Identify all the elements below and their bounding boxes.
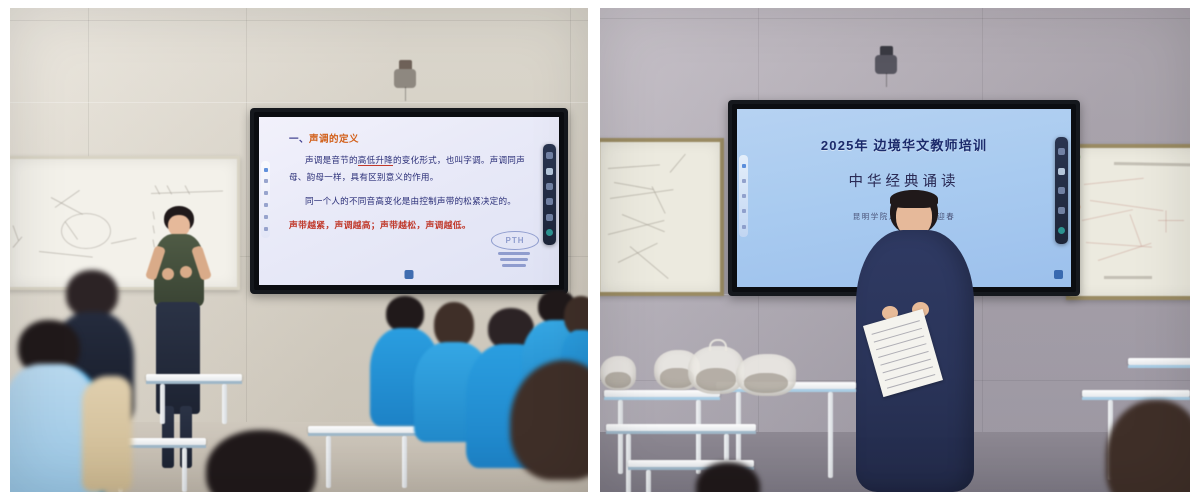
palette-icon[interactable] — [1058, 187, 1065, 194]
wall-seam — [246, 8, 247, 492]
slide-highlight-text: 声带越紧，声调越高；声带越松，声调越低。 — [289, 218, 539, 231]
left-interactive-display[interactable]: 一、声调的定义 声调是音节的高低升降的变化形式，也叫字调。声调同声母、韵母一样，… — [250, 108, 568, 294]
wall-seam — [10, 20, 588, 21]
menu-icon[interactable] — [546, 152, 553, 159]
eraser-icon[interactable] — [264, 179, 268, 183]
paragraph-1-underlined: 高低升降 — [358, 155, 393, 166]
shape-icon[interactable] — [264, 191, 268, 195]
pth-watermark: PTH — [491, 231, 537, 271]
whiteboard-handwriting — [1070, 148, 1190, 296]
plastic-bag — [600, 356, 636, 390]
right-wood-whiteboard — [1066, 144, 1190, 300]
slide-right-toolbar[interactable] — [1055, 137, 1068, 244]
desk — [1128, 358, 1190, 398]
slide-nav-button[interactable] — [1054, 270, 1063, 279]
menu-icon[interactable] — [1058, 148, 1065, 155]
eraser-icon[interactable] — [546, 198, 553, 205]
paragraph-1-seg-1: 声调是音节的 — [305, 155, 358, 165]
right-photo-panel: 2025年 边境华文教师培训 中华经典诵读 昆明学院人文学院 张迎春 — [600, 8, 1190, 492]
slide-paragraph-2: 同一个人的不同音高变化是由控制声带的松紧决定的。 — [289, 193, 539, 210]
audience-member — [1106, 400, 1190, 492]
hand-icon[interactable] — [1058, 227, 1065, 234]
select-icon[interactable] — [742, 194, 746, 198]
pth-watermark-label: PTH — [491, 231, 539, 250]
audience-member — [206, 430, 326, 492]
undo-icon[interactable] — [742, 209, 746, 213]
palette-icon[interactable] — [546, 183, 553, 190]
slide-subtitle: 中华经典诵读 — [849, 170, 960, 191]
pen-icon[interactable] — [1058, 168, 1065, 175]
jacket-on-chair — [82, 376, 132, 492]
pen-icon[interactable] — [742, 164, 746, 168]
left-wood-whiteboard — [600, 138, 724, 296]
settings-icon[interactable] — [546, 214, 553, 221]
slide-title: 2025年 边境华文教师培训 — [821, 135, 987, 154]
audience-member — [696, 462, 766, 492]
eraser-icon[interactable] — [742, 179, 746, 183]
slide-paragraph-1: 声调是音节的高低升降的变化形式，也叫字调。声调同声母、韵母一样，具有区别意义的作… — [289, 152, 539, 186]
slide-title-number: 一、 — [289, 134, 309, 145]
undo-icon[interactable] — [264, 215, 268, 219]
slide-left-toolbar[interactable] — [739, 155, 748, 237]
paragraph-2-text: 同一个人的不同音高变化是由控制声带的松紧决定的。 — [305, 196, 516, 206]
left-display-screen[interactable]: 一、声调的定义 声调是音节的高低升降的变化形式，也叫字调。声调同声母、韵母一样，… — [259, 117, 559, 285]
desk — [146, 374, 242, 424]
slide-title-text: 声调的定义 — [309, 134, 359, 145]
whiteboard-handwriting — [600, 142, 720, 292]
more-icon[interactable] — [264, 227, 268, 231]
select-icon[interactable] — [264, 203, 268, 207]
desk — [308, 426, 428, 488]
more-icon[interactable] — [742, 225, 746, 229]
left-photo-panel: 一、声调的定义 声调是音节的高低升降的变化形式，也叫字调。声调同声母、韵母一样，… — [10, 8, 588, 492]
slide-nav-button[interactable] — [405, 270, 414, 279]
hand-icon[interactable] — [546, 229, 553, 236]
slide-left-toolbar[interactable] — [261, 161, 270, 238]
slide-right-toolbar[interactable] — [543, 144, 556, 245]
eraser-icon[interactable] — [1058, 207, 1065, 214]
pen-icon[interactable] — [264, 168, 268, 172]
wall-seam — [600, 18, 1190, 19]
screenshot-root: 一、声调的定义 声调是音节的高低升降的变化形式，也叫字调。声调同声母、韵母一样，… — [0, 0, 1200, 500]
plastic-bag — [736, 354, 796, 396]
audience-member — [510, 360, 588, 492]
slide-title: 一、声调的定义 — [289, 131, 539, 145]
wall-seam — [10, 102, 588, 103]
right-presenter — [846, 190, 982, 492]
pen-icon[interactable] — [546, 168, 553, 175]
